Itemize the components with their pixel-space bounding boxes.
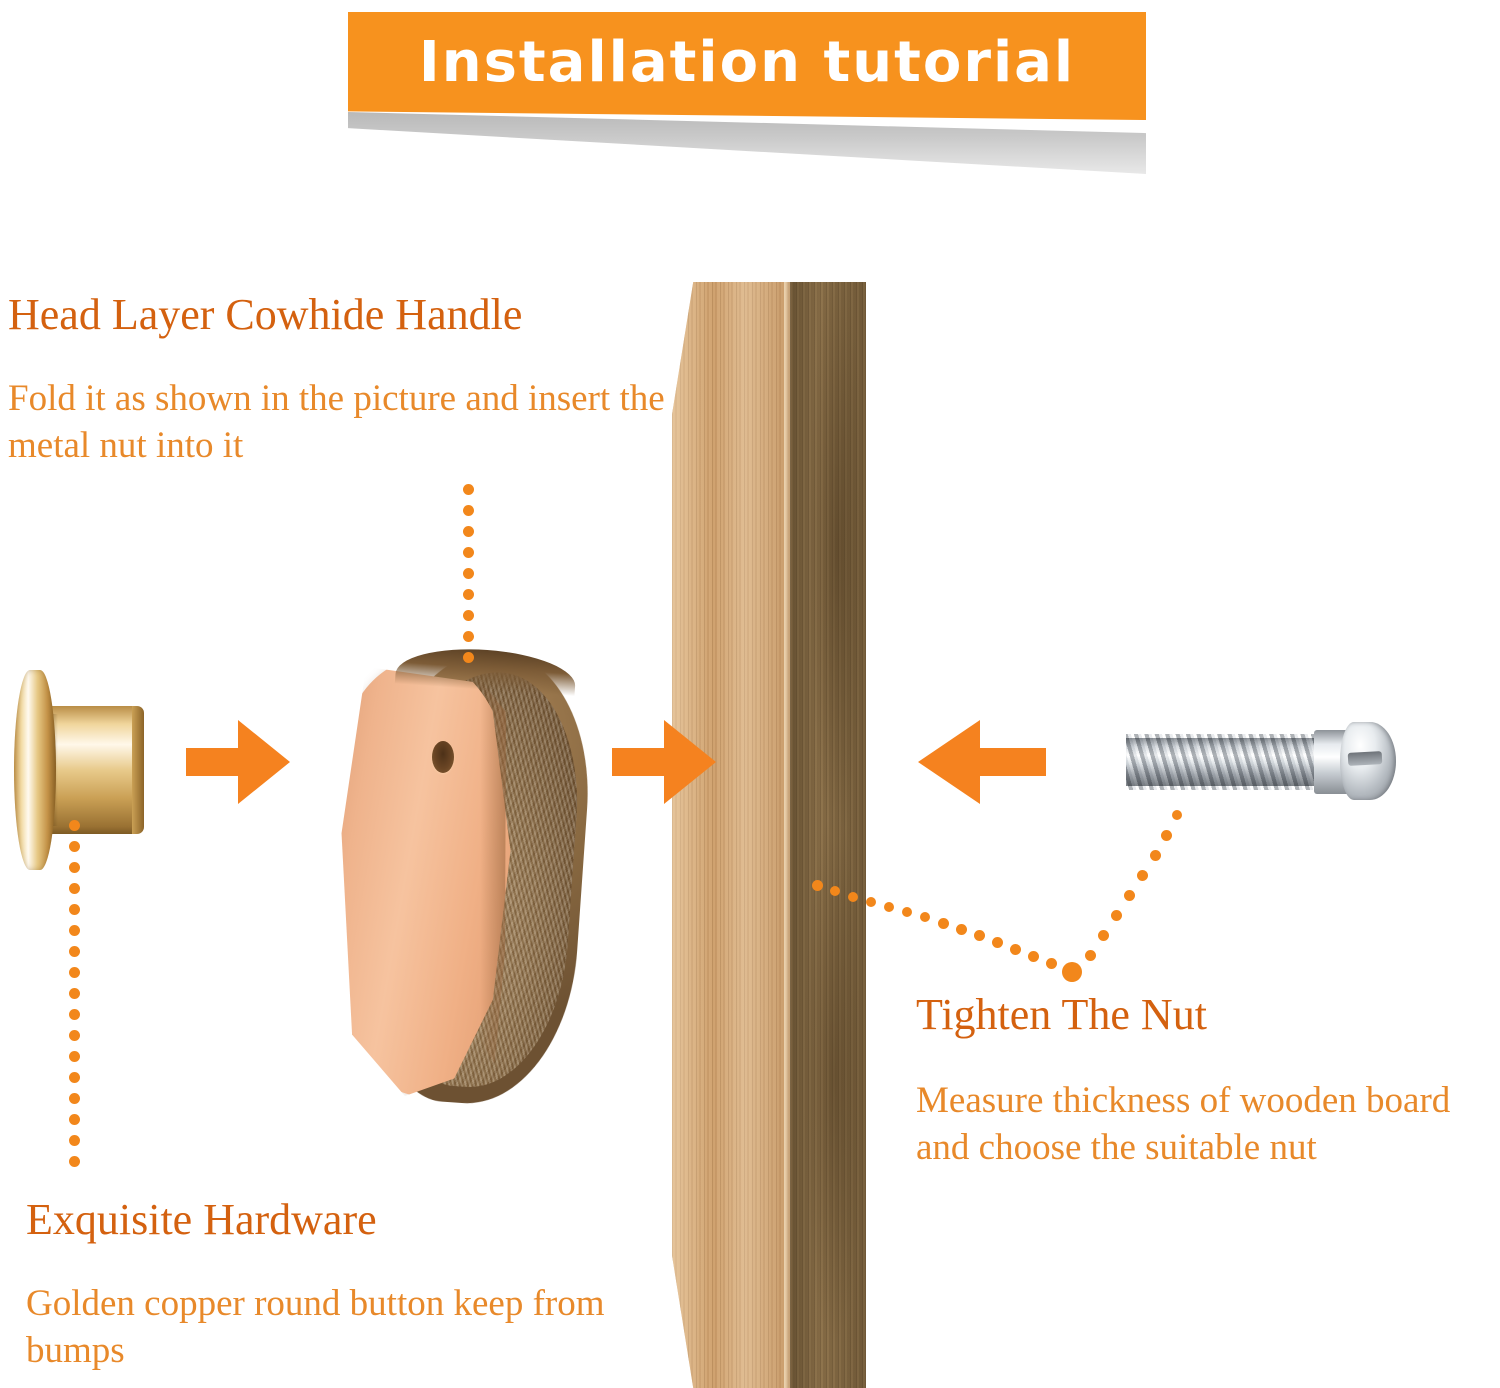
callout-heading-tighten-the-nut: Tighten The Nut — [916, 992, 1207, 1038]
callout-body-tighten-the-nut: Measure thickness of wooden board and ch… — [916, 1077, 1496, 1172]
board-edge-highlight — [784, 282, 792, 1388]
callout-body-exquisite-hardware: Golden copper round button keep from bum… — [26, 1280, 626, 1375]
nut-barrel — [50, 706, 138, 834]
arrow-handle-to-board-icon — [612, 714, 716, 810]
nut-barrel-cap — [132, 706, 144, 834]
callout-body-cowhide-handle: Fold it as shown in the picture and inse… — [8, 375, 698, 470]
brass-barrel-nut-illustration — [6, 670, 138, 870]
leather-handle-illustration — [330, 648, 620, 1108]
installation-tutorial-banner: Installation tutorial — [348, 12, 1146, 120]
arrow-nut-to-handle-icon — [186, 714, 290, 810]
board-front-grain — [790, 282, 866, 1388]
machine-screw-illustration — [1126, 722, 1396, 800]
nut-flange-disc — [14, 670, 56, 870]
arrow-screw-to-board-icon — [918, 714, 1046, 810]
banner-title: Installation tutorial — [419, 35, 1075, 91]
handle-screw-hole — [432, 741, 454, 773]
wooden-board-illustration — [672, 282, 872, 1388]
board-edge-grain — [672, 282, 790, 1388]
screw-head-slot — [1348, 751, 1383, 766]
callout-heading-cowhide-handle: Head Layer Cowhide Handle — [8, 292, 522, 338]
banner-shadow — [348, 112, 1146, 174]
screw-threads — [1126, 734, 1322, 790]
callout-heading-exquisite-hardware: Exquisite Hardware — [26, 1197, 377, 1243]
